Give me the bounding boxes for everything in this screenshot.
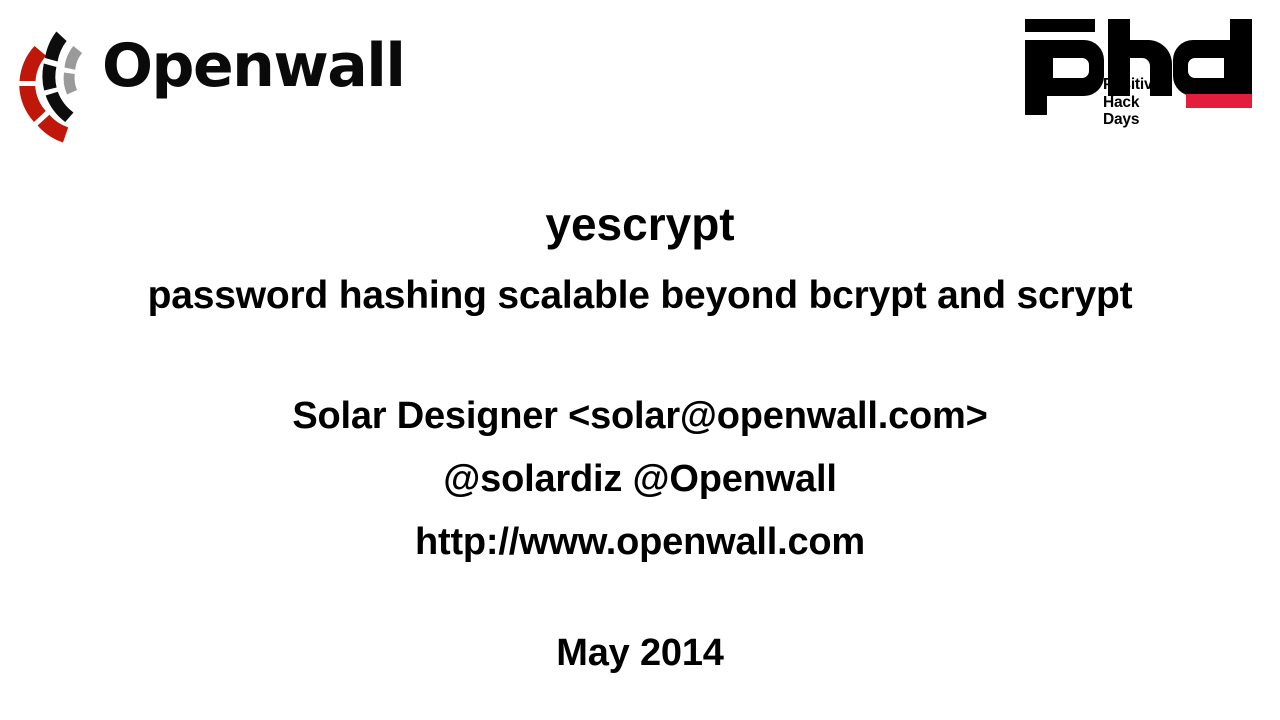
phd-tagline: Positive Hack Days — [1103, 76, 1161, 129]
openwall-arcs-icon — [18, 12, 114, 160]
phd-tagline-line-2: Hack — [1103, 94, 1161, 112]
openwall-wordmark: Openwall — [102, 36, 404, 96]
slide-subtitle: password hashing scalable beyond bcrypt … — [0, 270, 1280, 322]
phd-tagline-line-1: Positive — [1103, 76, 1161, 94]
date-line: May 2014 — [0, 628, 1280, 678]
phd-tagline-line-3: Days — [1103, 111, 1161, 129]
social-handles-line: @solardiz @Openwall — [0, 454, 1280, 504]
phd-logo: Positive Hack Days — [1020, 14, 1258, 134]
presentation-slide: Openwall Positive Hack D — [0, 0, 1280, 720]
website-line: http://www.openwall.com — [0, 517, 1280, 567]
author-line: Solar Designer <solar@openwall.com> — [0, 391, 1280, 441]
slide-title: yescrypt — [0, 196, 1280, 252]
openwall-logo: Openwall — [18, 12, 358, 160]
